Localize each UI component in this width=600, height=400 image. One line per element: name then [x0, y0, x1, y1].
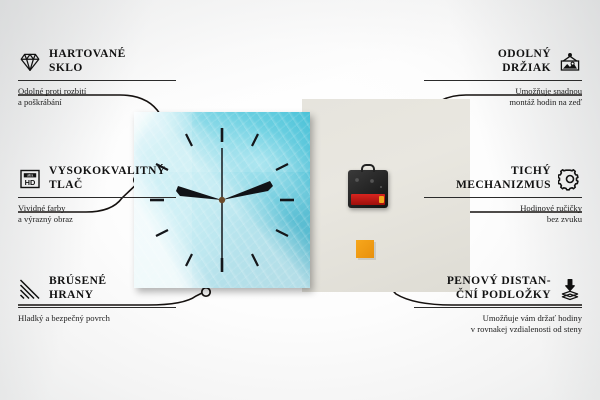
feature-subtitle: Hodinové ručičky bez zvuku	[424, 203, 582, 224]
movement-battery	[351, 194, 385, 205]
feature-title: VYSOKOKVALITNÝ TLAČ	[49, 165, 166, 192]
product-photo	[130, 104, 470, 292]
feature-durable-holder: ODOLNÝ DRŽIAK Umožňuje snadnou montáž ho…	[424, 48, 582, 107]
feature-high-quality-print: ultra HD VYSOKOKVALITNÝ TLAČ Vividné far…	[18, 165, 176, 224]
feature-title: PENOVÝ DISTAN- ČNÍ PODLOŽKY	[447, 275, 551, 302]
feature-beveled-edges: BRÚSENÉ HRANY Hladký a bezpečný povrch	[18, 275, 176, 324]
gear-icon	[558, 167, 582, 191]
wall-mount-picture-icon	[558, 50, 582, 74]
feature-foam-spacers: PENOVÝ DISTAN- ČNÍ PODLOŽKY Umožňuje vám…	[414, 275, 582, 334]
feature-tempered-glass: HARTOVANÉ SKLO Odolné proti rozbití a po…	[18, 48, 176, 107]
feature-subtitle: Hladký a bezpečný povrch	[18, 313, 176, 324]
feature-title: ODOLNÝ DRŽIAK	[498, 48, 551, 75]
diamond-icon	[18, 50, 42, 74]
divider	[18, 80, 176, 81]
feature-silent-mechanism: TICHÝ MECHANIZMUS Hodinové ručičky bez z…	[424, 165, 582, 224]
divider	[18, 197, 176, 198]
divider	[414, 307, 582, 308]
movement-hanger-loop	[361, 164, 375, 172]
ultra-hd-icon: ultra HD	[18, 167, 42, 191]
divider	[424, 197, 582, 198]
beveled-edges-icon	[18, 277, 42, 301]
clock-movement-mechanism	[348, 170, 388, 208]
feature-subtitle: Vividné farby a výrazný obraz	[18, 203, 176, 224]
svg-text:HD: HD	[25, 177, 36, 186]
feature-title: HARTOVANÉ SKLO	[49, 48, 126, 75]
feature-subtitle: Umožňuje snadnou montáž hodin na zeď	[424, 86, 582, 107]
movement-detail	[352, 175, 384, 191]
divider	[424, 80, 582, 81]
foam-spacer-icon	[558, 277, 582, 301]
feature-title: TICHÝ MECHANIZMUS	[456, 165, 551, 192]
feature-subtitle: Umožňuje vám držať hodiny v rovnakej vzd…	[414, 313, 582, 334]
foam-spacer-pad	[356, 240, 374, 258]
infographic-stage: HARTOVANÉ SKLO Odolné proti rozbití a po…	[0, 0, 600, 400]
divider	[18, 307, 176, 308]
feature-subtitle: Odolné proti rozbití a poškrábání	[18, 86, 176, 107]
feature-title: BRÚSENÉ HRANY	[49, 275, 106, 302]
